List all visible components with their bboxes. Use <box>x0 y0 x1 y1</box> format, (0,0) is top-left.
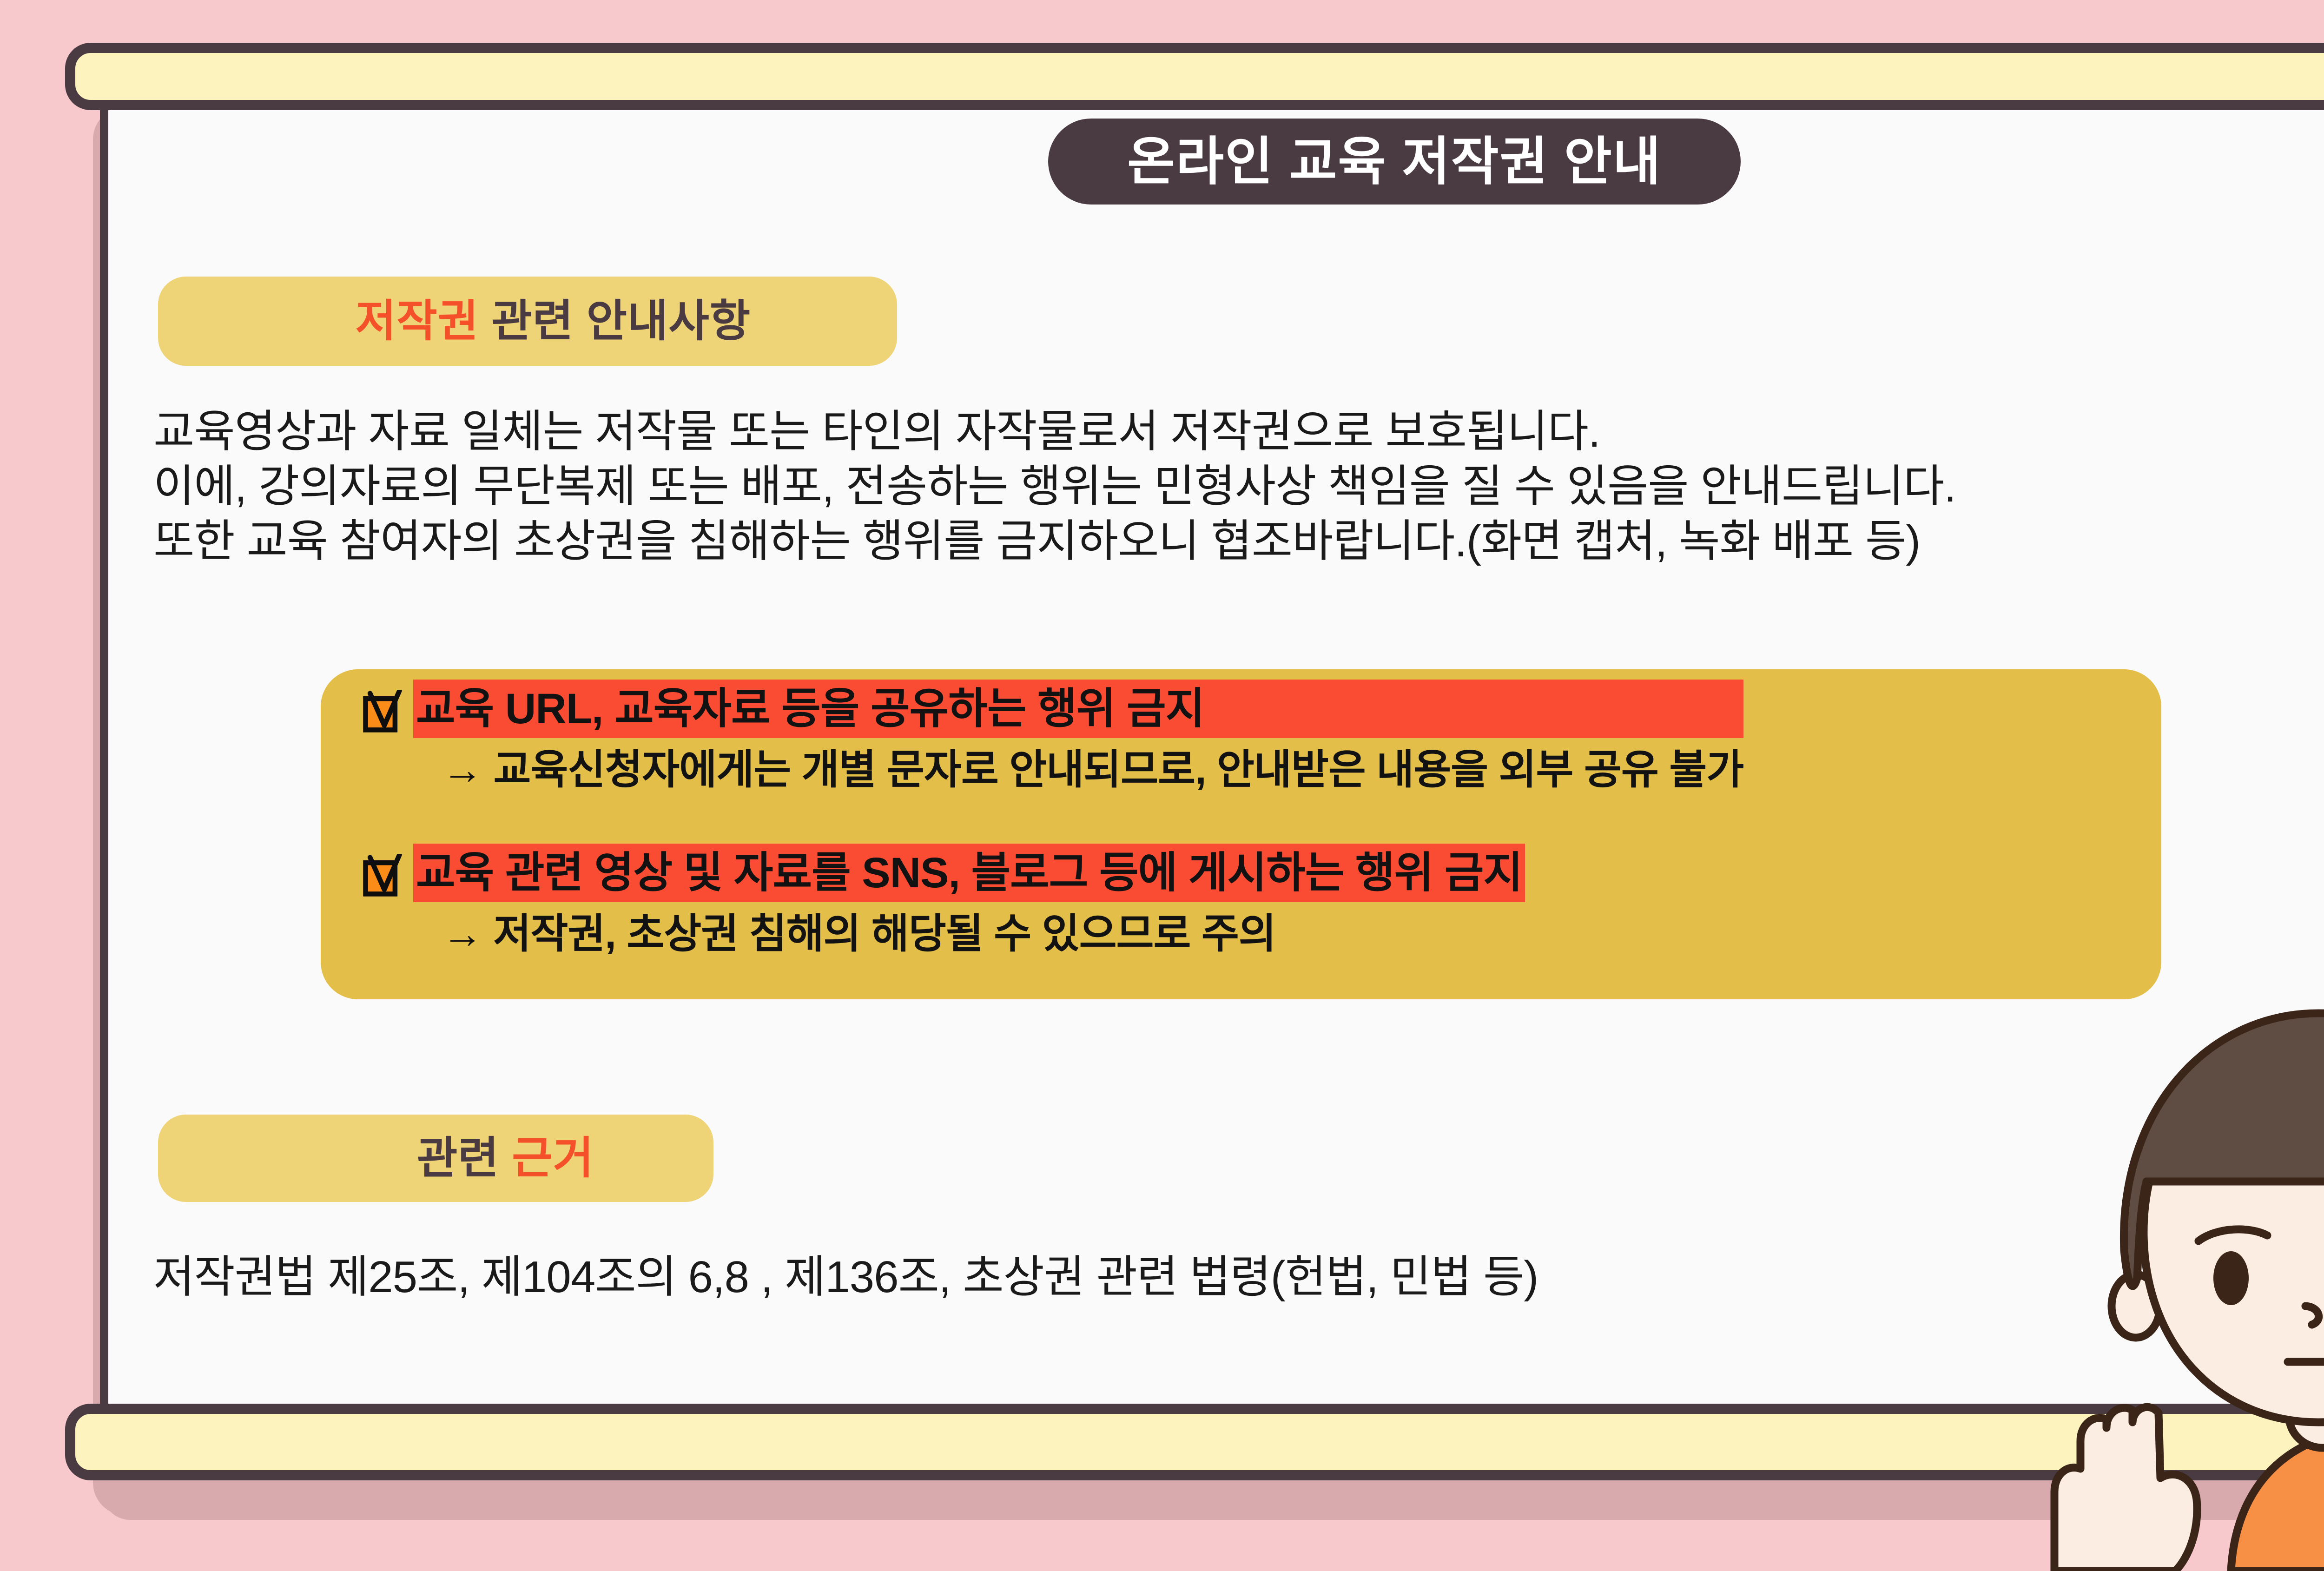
section-header-notice-rest: 관련 안내사항 <box>479 297 751 346</box>
section-header-basis-dark: 관련 <box>417 1134 512 1183</box>
legal-basis-text: 저작권법 제25조, 제104조의 6,8 , 제136조, 초상권 관련 법령… <box>153 1249 1538 1305</box>
student-stop-gesture-illustration <box>2036 953 2324 1571</box>
section-header-notice-accent: 저작권 <box>356 297 479 346</box>
checklist-item: 교육 관련 영상 및 자료를 SNS, 블로그 등에 게시하는 행위 금지 → … <box>360 844 1525 962</box>
checklist-item: 교육 URL, 교육자료 등을 공유하는 행위 금지 → 교육신청자에게는 개별… <box>360 680 1743 798</box>
checklist-item-headline: 교육 URL, 교육자료 등을 공유하는 행위 금지 <box>413 680 1743 738</box>
checklist-item-headline: 교육 관련 영상 및 자료를 SNS, 블로그 등에 게시하는 행위 금지 <box>413 844 1525 902</box>
notice-paragraph-line: 또한 교육 참여자의 초상권을 침해하는 행위를 금지하오니 협조바랍니다.(화… <box>153 514 2324 569</box>
notice-paragraph-line: 교육영상과 자료 일체는 저작물 또는 타인의 자작물로서 저작권으로 보호됩니… <box>153 404 2324 459</box>
notice-paragraph-line: 이에, 강의자료의 무단복제 또는 배포, 전송하는 행위는 민형사상 책임을 … <box>153 459 2324 514</box>
siren-alert-icon <box>2319 181 2324 442</box>
section-header-basis-accent: 근거 <box>512 1134 594 1183</box>
notice-paragraph: 교육영상과 자료 일체는 저작물 또는 타인의 자작물로서 저작권으로 보호됩니… <box>153 404 2324 569</box>
section-header-basis: 관련 근거 <box>158 1115 713 1202</box>
section-header-notice: 저작권 관련 안내사항 <box>158 277 897 366</box>
checked-box-icon <box>360 690 405 734</box>
checklist-item-detail: → 교육신청자에게는 개별 문자로 안내되므로, 안내받은 내용을 외부 공유 … <box>413 742 1743 798</box>
board-bottom-bar <box>65 1404 2324 1480</box>
slide-canvas: 온라인 교육 저작권 안내 저작권 관련 안내사항 교육영상과 자료 일체는 저… <box>0 0 2324 1569</box>
prohibition-checklist-panel: 교육 URL, 교육자료 등을 공유하는 행위 금지 → 교육신청자에게는 개별… <box>321 669 2161 999</box>
board-top-bar <box>65 43 2324 110</box>
page-title-text: 온라인 교육 저작권 안내 <box>1127 136 1662 188</box>
checklist-item-detail: → 저작권, 초상권 침해의 해당될 수 있으므로 주의 <box>413 906 1525 962</box>
page-title: 온라인 교육 저작권 안내 <box>1048 119 1741 205</box>
checked-box-icon <box>360 854 405 898</box>
